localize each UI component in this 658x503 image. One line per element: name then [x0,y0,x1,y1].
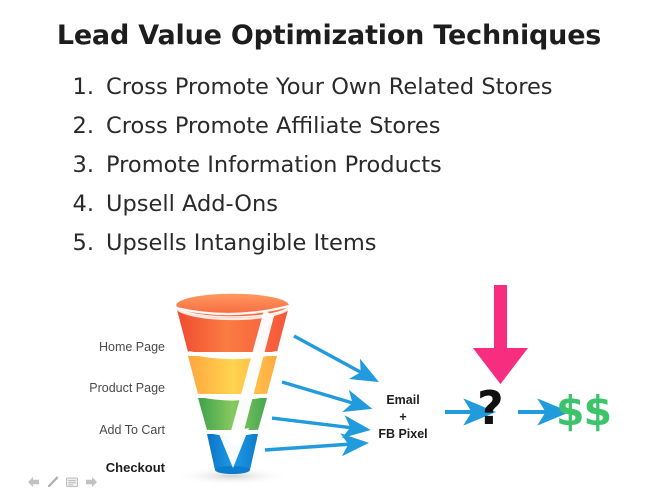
list-item: 4. Upsell Add-Ons [56,191,616,230]
capture-line-pixel: FB Pixel [364,426,442,443]
list-item: 1. Cross Promote Your Own Related Stores [56,74,616,113]
funnel-flow-arrows [265,336,364,450]
revenue-symbol: $$ [556,391,611,432]
unknown-step-symbol: ? [477,385,504,431]
highlight-arrow-icon [473,285,528,384]
page-title: Lead Value Optimization Techniques [0,20,658,51]
funnel-diagram: Home Page Product Page Add To Cart Check… [0,278,658,503]
capture-line-email: Email [364,392,442,409]
list-item-number: 4. [56,191,106,217]
list-item-label: Promote Information Products [106,152,442,178]
list-item-label: Upsell Add-Ons [106,191,278,217]
list-item: 2. Cross Promote Affiliate Stores [56,113,616,152]
list-item-number: 3. [56,152,106,178]
arrow-left-icon[interactable] [26,474,42,490]
list-item-label: Cross Promote Affiliate Stores [106,113,440,139]
list-item: 5. Upsells Intangible Items [56,230,616,269]
list-item: 3. Promote Information Products [56,152,616,191]
arrow-right-icon[interactable] [83,474,99,490]
list-item-number: 2. [56,113,106,139]
techniques-list: 1. Cross Promote Your Own Related Stores… [56,74,616,269]
note-icon[interactable] [64,474,80,490]
capture-line-plus: + [364,409,442,426]
mini-toolbar[interactable] [26,474,99,490]
list-item-label: Cross Promote Your Own Related Stores [106,74,553,100]
pencil-icon[interactable] [45,474,61,490]
list-item-label: Upsells Intangible Items [106,230,376,256]
capture-method-label: Email + FB Pixel [364,392,442,443]
list-item-number: 1. [56,74,106,100]
list-item-number: 5. [56,230,106,256]
